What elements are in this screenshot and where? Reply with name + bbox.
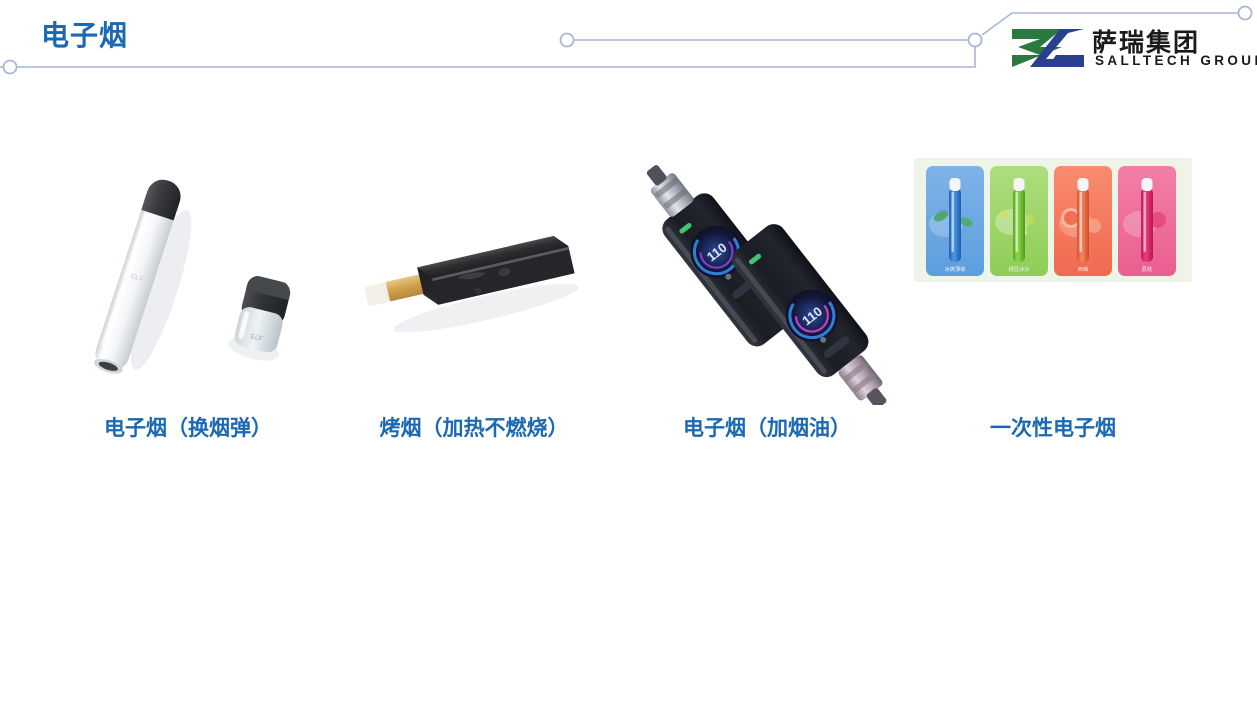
device-tip-lychee (1142, 178, 1153, 191)
product-label-e-liquid-mod: 电子烟（加烟油） (622, 412, 912, 442)
disposable-panel-mint: 冰爽薄荷 (926, 166, 984, 276)
device-gloss-mint (952, 192, 954, 252)
page-title: 电子烟 (41, 14, 128, 54)
product-card-pod-system: ELF ELF 电子烟（换烟弹） (43, 150, 333, 480)
deco-node-corner (969, 34, 982, 47)
grapefruit-whole (1087, 219, 1101, 233)
product-label-heat-not-burn: 烤烟（加热不燃烧） (329, 412, 619, 442)
product-image-e-liquid-mod: 110 110 (622, 150, 912, 405)
heat-not-burn-device (363, 233, 582, 345)
device-tip-mint (950, 178, 961, 191)
disposable-panel-grapefruit: 西柚 (1054, 166, 1112, 276)
disposable-panel-mungbean: 绿豆冰沙 (990, 166, 1048, 276)
device-body-mint (949, 188, 961, 262)
product-image-disposable: 冰爽薄荷 绿豆冰沙 (908, 150, 1198, 405)
deco-node-right (1239, 7, 1252, 20)
product-card-heat-not-burn: 烤烟（加热不燃烧） (329, 150, 619, 480)
product-label-disposable: 一次性电子烟 (908, 412, 1198, 442)
pod-cartridge: ELF (226, 273, 296, 365)
stick-tobacco (386, 274, 426, 302)
device-gloss-mungbean (1016, 192, 1018, 252)
flavor-label-lychee: 荔枝 (1142, 265, 1153, 273)
product-row: ELF ELF 电子烟（换烟弹） (0, 150, 1257, 480)
logo-name-en: SALLTECH GROUP (1095, 53, 1257, 68)
grapefruit-flesh (1064, 211, 1078, 225)
device-gloss-grapefruit (1080, 192, 1082, 252)
deco-node-left (4, 61, 17, 74)
company-logo: 萨瑞集团 SALLTECH GROUP (1010, 22, 1250, 76)
disposable-panel-lychee: 荔枝 (1118, 166, 1176, 276)
device-gloss-lychee (1144, 192, 1146, 252)
product-card-e-liquid-mod: 110 110 (622, 150, 912, 480)
product-image-heat-not-burn (329, 150, 619, 405)
deco-node-middle (561, 34, 574, 47)
device-body-lychee (1141, 188, 1153, 262)
product-image-pod-system: ELF ELF (43, 150, 333, 405)
device-tip-mungbean (1014, 178, 1025, 191)
device-body-mungbean (1013, 188, 1025, 262)
deco-path-lower (0, 47, 975, 67)
salltech-logo-mark (1010, 25, 1086, 71)
flavor-label-mungbean: 绿豆冰沙 (1009, 265, 1030, 273)
page-header: 电子烟 萨瑞集团 SALLTECH GROUP (0, 0, 1257, 95)
device-tip-grapefruit (1078, 178, 1089, 191)
device-body-grapefruit (1077, 188, 1089, 262)
product-label-pod-system: 电子烟（换烟弹） (43, 412, 333, 442)
bean-2 (1025, 215, 1034, 224)
bean-1 (1000, 210, 1008, 218)
flavor-label-mint: 冰爽薄荷 (945, 265, 966, 273)
logo-mark-blue-foot (1048, 55, 1084, 67)
product-card-disposable: 冰爽薄荷 绿豆冰沙 (908, 150, 1198, 480)
flavor-label-grapefruit: 西柚 (1078, 265, 1088, 273)
